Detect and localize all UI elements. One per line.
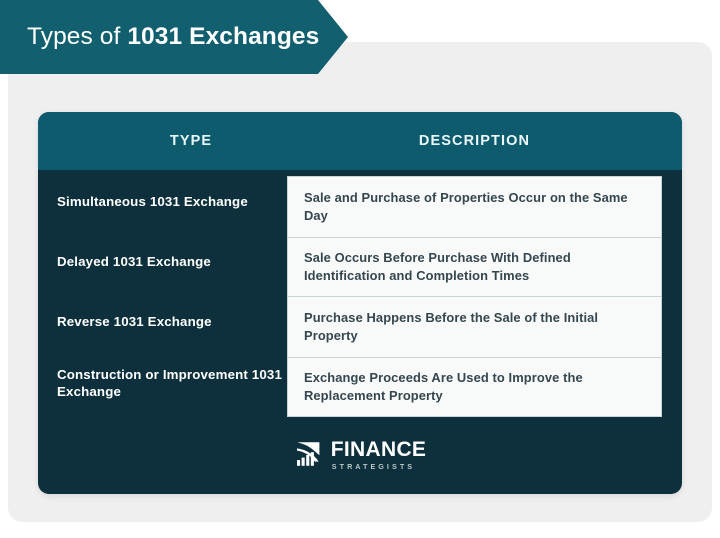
table-row: Exchange Proceeds Are Used to Improve th… <box>288 357 661 416</box>
logo-wordmark: FINANCE STRATEGISTS <box>331 439 426 470</box>
table-row: Reverse 1031 Exchange <box>57 291 282 352</box>
table-header: TYPE DESCRIPTION <box>38 112 682 170</box>
page-title-regular: Types of <box>27 23 127 50</box>
comparison-card: TYPE DESCRIPTION Simultaneous 1031 Excha… <box>38 112 682 494</box>
description-column: Sale and Purchase of Properties Occur on… <box>287 176 662 417</box>
logo-name: FINANCE <box>331 439 426 460</box>
logo-tagline: STRATEGISTS <box>332 463 426 470</box>
table-row: Delayed 1031 Exchange <box>57 232 282 291</box>
infographic-page: Types of 1031 Exchanges TYPE DESCRIPTION… <box>0 0 720 538</box>
column-header-description: DESCRIPTION <box>287 112 662 170</box>
table-row: Simultaneous 1031 Exchange <box>57 170 282 232</box>
brand-logo: FINANCE STRATEGISTS <box>38 439 682 470</box>
table-row: Construction or Improvement 1031 Exchang… <box>57 352 282 413</box>
column-header-type: TYPE <box>100 112 282 170</box>
page-title: Types of 1031 Exchanges <box>27 23 319 51</box>
table-row: Sale and Purchase of Properties Occur on… <box>288 177 661 237</box>
table-row: Purchase Happens Before the Sale of the … <box>288 296 661 357</box>
table-row: Sale Occurs Before Purchase With Defined… <box>288 237 661 296</box>
page-title-bold: 1031 Exchanges <box>127 23 319 50</box>
rising-bar-chart-icon <box>294 439 324 469</box>
title-banner: Types of 1031 Exchanges <box>0 0 348 74</box>
